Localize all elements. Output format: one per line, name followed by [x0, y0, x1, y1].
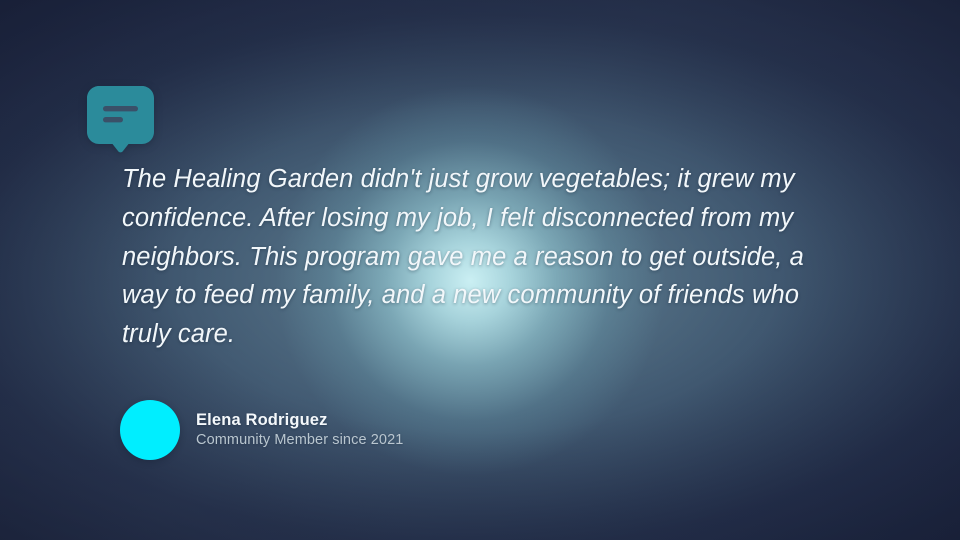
author-name: Elena Rodriguez	[196, 411, 403, 430]
author-role: Community Member since 2021	[196, 432, 403, 448]
testimonial-author: Elena Rodriguez Community Member since 2…	[120, 400, 403, 460]
speech-bubble-icon	[86, 85, 155, 153]
testimonial-slide: The Healing Garden didn't just grow vege…	[0, 0, 960, 540]
testimonial-quote-text: The Healing Garden didn't just grow vege…	[122, 160, 812, 354]
testimonial-content: The Healing Garden didn't just grow vege…	[0, 0, 960, 540]
author-meta: Elena Rodriguez Community Member since 2…	[196, 411, 403, 450]
avatar	[120, 400, 180, 460]
